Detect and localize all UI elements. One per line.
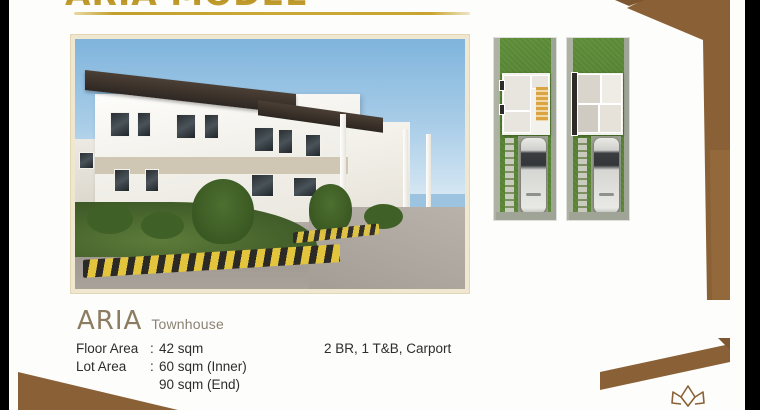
plan-car xyxy=(594,138,619,214)
plan-wall xyxy=(572,73,577,135)
photo-window xyxy=(79,152,95,170)
spec-label: Lot Area xyxy=(76,358,150,376)
lotus-logo xyxy=(665,382,711,408)
letterbox-bar-left xyxy=(0,0,9,410)
photo-door xyxy=(114,169,130,192)
plan-wall xyxy=(500,81,504,90)
plan-walkway xyxy=(578,138,587,214)
plan-staircase xyxy=(536,87,548,121)
photo-shrub xyxy=(87,204,134,234)
plan-living-area xyxy=(504,76,530,110)
photo-tree xyxy=(192,179,254,244)
spec-value: 60 sqm (Inner) xyxy=(159,358,247,376)
plan-house-footprint xyxy=(575,73,623,135)
photo-wall-accent-band xyxy=(95,157,360,175)
plan-sidewalk xyxy=(551,38,556,220)
letterbox-bar-right xyxy=(745,0,760,410)
slide-title-clip: ARIA MODEL xyxy=(65,0,485,11)
photo-window xyxy=(204,114,220,139)
plan-dining-area xyxy=(504,112,530,132)
spec-row-lot-area: Lot Area : 60 sqm (Inner) xyxy=(76,358,247,376)
plan-sidewalk xyxy=(494,38,500,220)
model-features: 2 BR, 1 T&B, Carport xyxy=(324,341,451,356)
plan-car xyxy=(521,138,546,214)
plan-bedroom-1 xyxy=(576,75,600,103)
photo-window xyxy=(251,174,274,197)
plan-wall xyxy=(500,105,504,114)
slide-page: ARIA MODEL xyxy=(9,0,745,410)
photo-window xyxy=(278,129,294,154)
photo-window xyxy=(137,112,151,137)
spec-value: 42 sqm xyxy=(159,340,203,358)
plan-walkway xyxy=(505,138,514,214)
photo-door xyxy=(145,169,159,192)
spec-separator: : xyxy=(150,340,159,358)
second-floor-plan[interactable] xyxy=(567,38,629,220)
corner-decoration-top-right xyxy=(615,0,730,300)
photo-shrub xyxy=(141,212,184,240)
spec-label: Floor Area xyxy=(76,340,150,358)
model-name-line: ARIA Townhouse xyxy=(77,306,224,336)
plan-house-footprint xyxy=(502,73,550,135)
spec-value: 90 sqm (End) xyxy=(159,377,240,392)
title-underline-rule xyxy=(74,12,470,15)
ground-floor-plan[interactable] xyxy=(494,38,556,220)
spec-separator: : xyxy=(150,358,159,376)
model-type: Townhouse xyxy=(151,316,224,332)
plan-street-kerb xyxy=(569,212,627,220)
plan-sidewalk xyxy=(624,38,629,220)
page-title: ARIA MODEL xyxy=(65,0,485,11)
photo-window xyxy=(110,112,130,137)
model-specs: Floor Area : 42 sqm Lot Area : 60 sqm (I… xyxy=(76,340,247,394)
spec-row-lot-area-end: 90 sqm (End) xyxy=(76,376,247,394)
slide-canvas: ARIA MODEL xyxy=(0,0,760,410)
plan-hallway xyxy=(602,75,621,103)
photo-window xyxy=(254,127,274,152)
plan-toilet-bath xyxy=(600,105,621,132)
model-name: ARIA xyxy=(77,306,142,336)
spec-row-floor-area: Floor Area : 42 sqm xyxy=(76,340,247,358)
photo-window xyxy=(305,134,321,157)
hero-photo-frame xyxy=(71,35,469,293)
plan-bedroom-2 xyxy=(576,105,598,132)
plan-street-kerb xyxy=(496,212,554,220)
hero-photo xyxy=(75,39,465,289)
floor-plan-gallery xyxy=(494,38,629,220)
photo-window xyxy=(176,114,196,139)
